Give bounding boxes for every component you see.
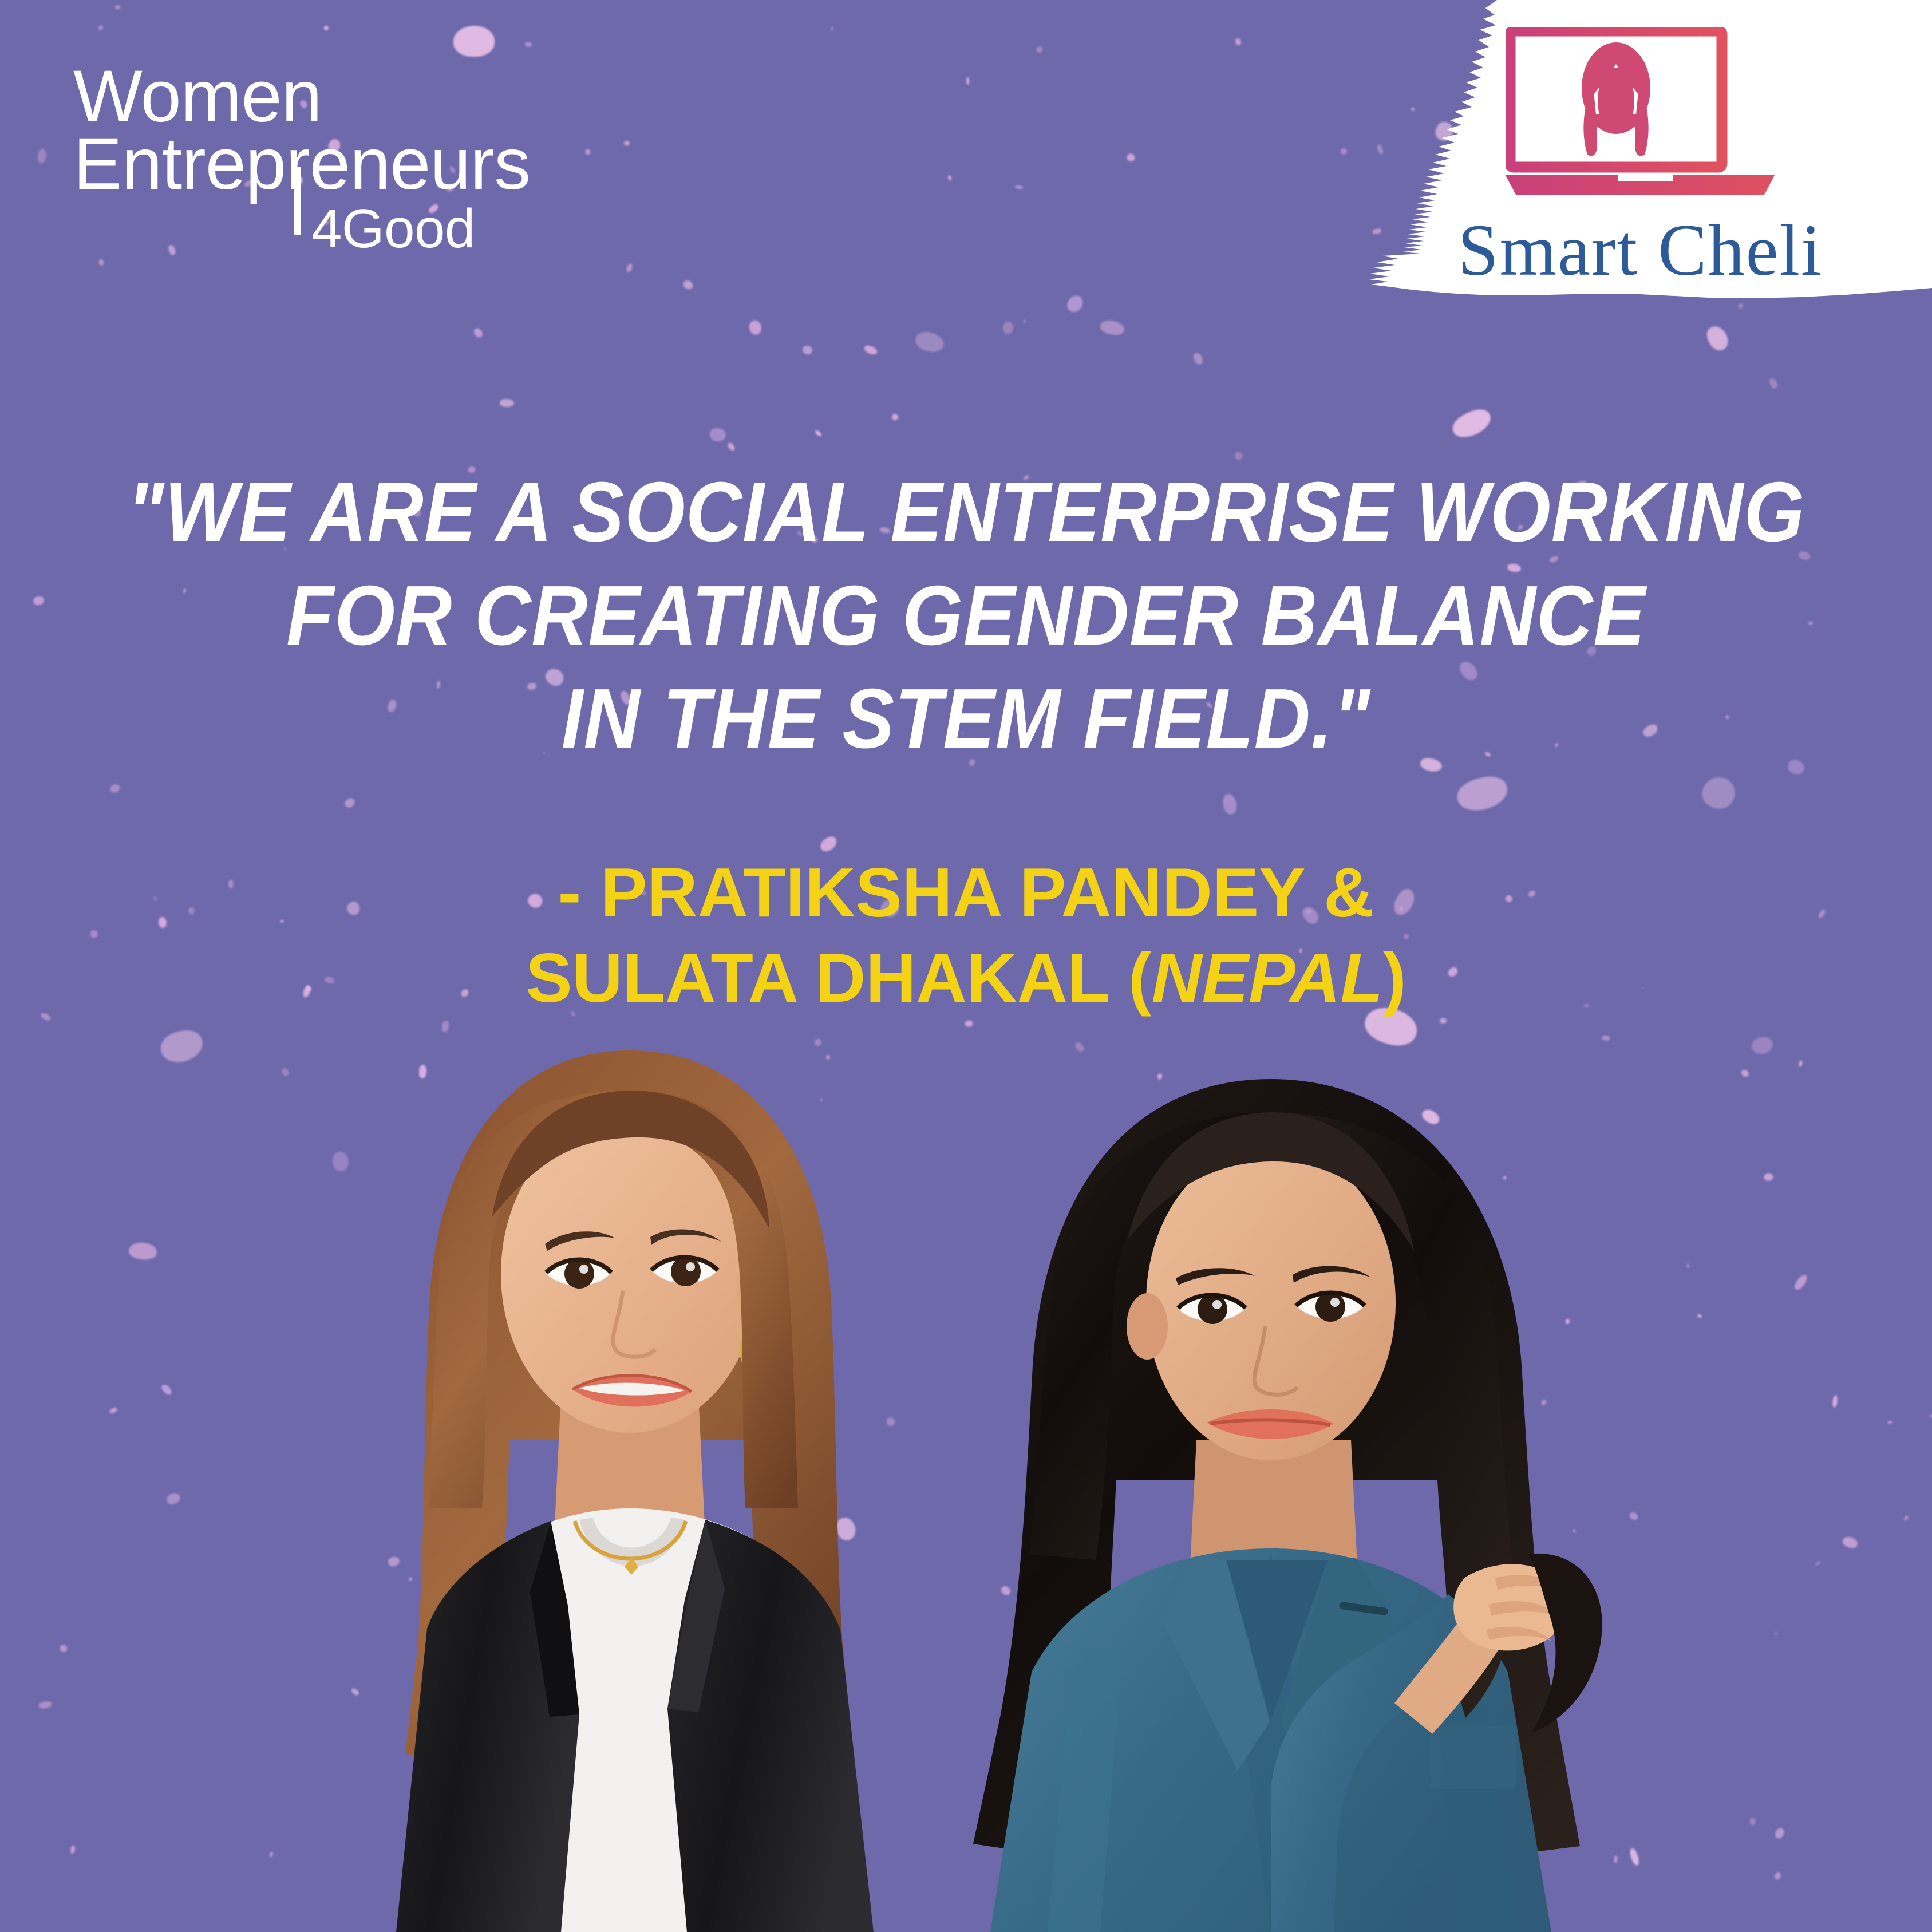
smart-cheli-logo: Smart Cheli xyxy=(1402,11,1878,309)
portrait-pratiksha-pandey xyxy=(321,1005,945,1932)
wordmark-line-4good-row: 4Good xyxy=(294,202,530,256)
attribution-paren-close: ) xyxy=(1383,939,1406,1017)
wordmark-line-4good: 4Good xyxy=(311,202,475,256)
attribution-block: - PRATIKSHA PANDEY & SULATA DHAKAL (NEPA… xyxy=(0,850,1932,1021)
quote-poster: Women Entrepreneurs 4Good xyxy=(0,0,1932,1932)
attribution-line-2: SULATA DHAKAL (NEPAL) xyxy=(0,935,1932,1021)
program-wordmark: Women Entrepreneurs 4Good xyxy=(73,63,530,256)
attribution-line-1: - PRATIKSHA PANDEY & xyxy=(0,850,1932,935)
attribution-names: SULATA DHAKAL ( xyxy=(526,939,1151,1017)
attribution-country: NEPAL xyxy=(1152,939,1383,1017)
quote-line-1: "WE ARE A SOCIAL ENTERPRISE WORKING xyxy=(77,461,1855,564)
portrait-photo-group xyxy=(0,1005,1932,1932)
wordmark-line-entrepreneurs: Entrepreneurs xyxy=(73,131,530,198)
laptop-with-girl-icon xyxy=(1506,27,1775,205)
wordmark-divider-bar xyxy=(294,167,301,235)
quote-line-3: IN THE STEM FIELD." xyxy=(77,667,1855,771)
wordmark-line-women: Women xyxy=(73,63,530,131)
quote-line-2: FOR CREATING GENDER BALANCE xyxy=(77,564,1855,668)
quote-block: "WE ARE A SOCIAL ENTERPRISE WORKING FOR … xyxy=(0,461,1932,771)
portrait-sulata-dhakal xyxy=(876,1045,1672,1932)
brand-name: Smart Cheli xyxy=(1457,208,1822,293)
